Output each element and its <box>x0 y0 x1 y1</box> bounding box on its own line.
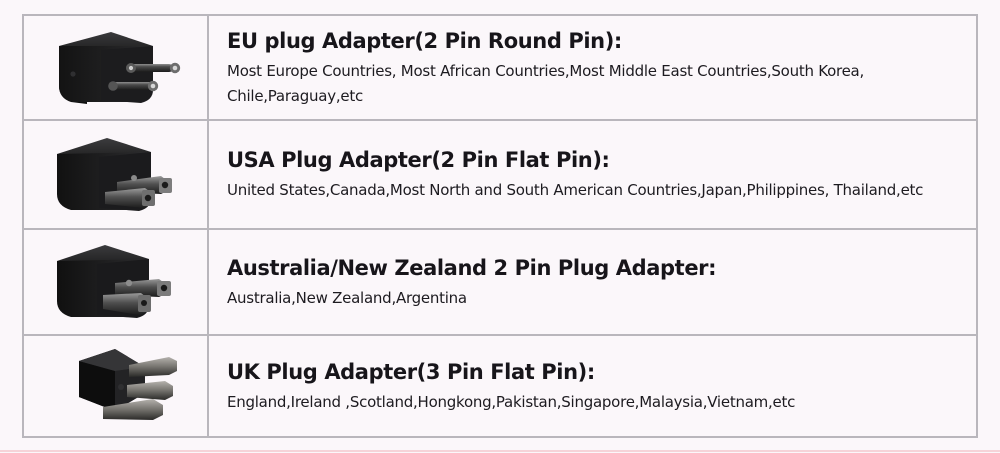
usa-plug-adapter-icon <box>41 130 191 218</box>
adapter-image-cell <box>24 230 209 335</box>
adapter-text-cell: Australia/New Zealand 2 Pin Plug Adapter… <box>209 230 976 335</box>
adapter-description: United States,Canada,Most North and Sout… <box>227 178 966 202</box>
eu-plug-adapter-icon <box>41 24 191 110</box>
adapter-image-cell <box>24 121 209 228</box>
table-row: USA Plug Adapter(2 Pin Flat Pin): United… <box>24 121 976 230</box>
table-row: EU plug Adapter(2 Pin Round Pin): Most E… <box>24 16 976 121</box>
adapter-text-cell: USA Plug Adapter(2 Pin Flat Pin): United… <box>209 121 976 228</box>
adapter-image-cell <box>24 16 209 119</box>
adapter-description: Australia,New Zealand,Argentina <box>227 286 966 310</box>
adapter-type-table: EU plug Adapter(2 Pin Round Pin): Most E… <box>22 14 978 438</box>
adapter-description: England,Ireland ,Scotland,Hongkong,Pakis… <box>227 390 966 414</box>
table-row: UK Plug Adapter(3 Pin Flat Pin): England… <box>24 336 976 436</box>
adapter-title: Australia/New Zealand 2 Pin Plug Adapter… <box>227 256 966 282</box>
bottom-accent-rule <box>0 450 1000 452</box>
adapter-title: EU plug Adapter(2 Pin Round Pin): <box>227 29 966 55</box>
adapter-text-cell: EU plug Adapter(2 Pin Round Pin): Most E… <box>209 16 976 119</box>
australia-newzealand-plug-adapter-icon <box>41 239 191 325</box>
adapter-description: Most Europe Countries, Most African Coun… <box>227 59 966 108</box>
page-root: EU plug Adapter(2 Pin Round Pin): Most E… <box>0 0 1000 453</box>
uk-plug-adapter-icon <box>41 341 191 431</box>
adapter-text-cell: UK Plug Adapter(3 Pin Flat Pin): England… <box>209 336 976 436</box>
adapter-image-cell <box>24 336 209 436</box>
table-row: Australia/New Zealand 2 Pin Plug Adapter… <box>24 230 976 337</box>
adapter-title: UK Plug Adapter(3 Pin Flat Pin): <box>227 360 966 386</box>
adapter-title: USA Plug Adapter(2 Pin Flat Pin): <box>227 148 966 174</box>
